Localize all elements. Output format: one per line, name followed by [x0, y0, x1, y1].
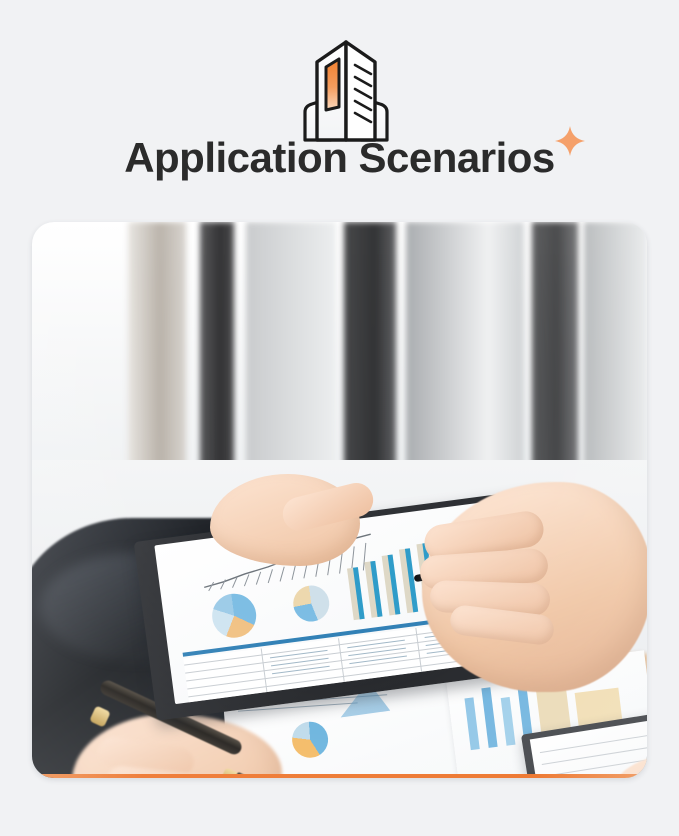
page-title: Application Scenarios	[124, 132, 555, 184]
page-header: Application Scenarios	[0, 0, 679, 210]
page-title-row: Application Scenarios	[0, 132, 679, 184]
four-point-sparkle-icon	[553, 124, 587, 158]
application-scenario-photo: Document Contract	[32, 222, 647, 778]
building-skyscraper-icon	[287, 36, 405, 144]
photo-scene	[32, 222, 647, 778]
